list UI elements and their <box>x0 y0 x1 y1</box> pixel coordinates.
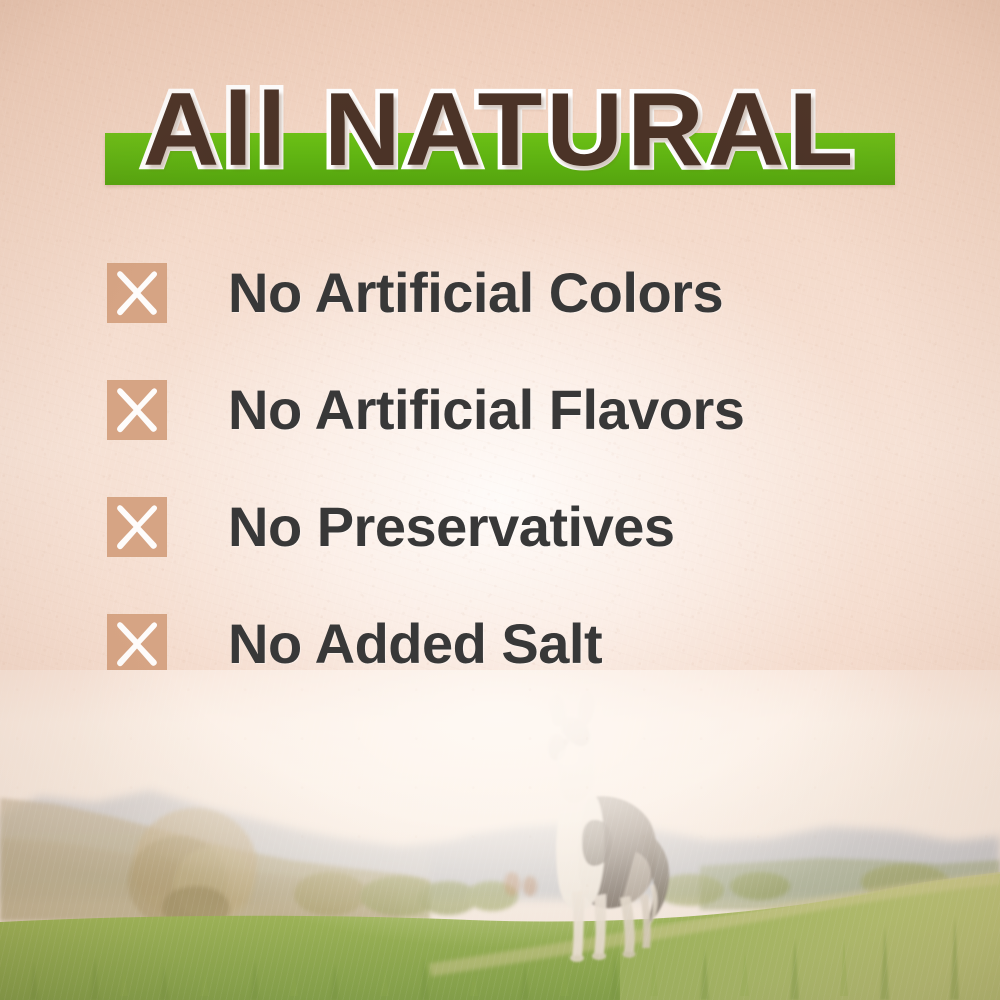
all-natural-poster: All NATURAL No Artificial Colors No Arti… <box>0 0 1000 1000</box>
poster-vignette <box>0 0 1000 1000</box>
